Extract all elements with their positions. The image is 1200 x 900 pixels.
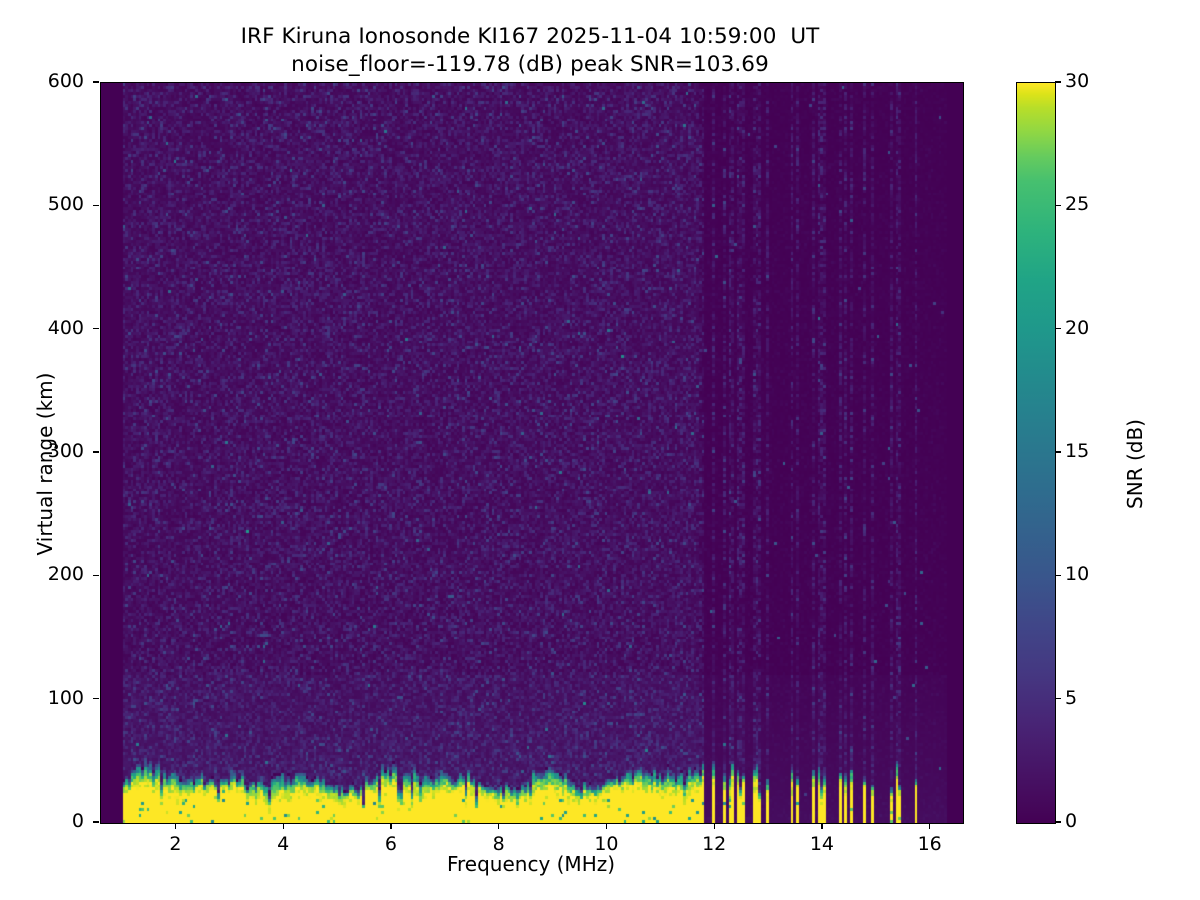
colorbar-tick-label: 5 — [1065, 687, 1125, 709]
colorbar-tick — [1055, 698, 1061, 699]
y-axis-tick — [93, 205, 99, 206]
y-axis-label: Virtual range (km) — [33, 314, 57, 614]
colorbar-tick — [1055, 575, 1061, 576]
y-axis-tick — [93, 328, 99, 329]
y-axis-tick — [93, 81, 99, 82]
colorbar-tick-label: 15 — [1065, 440, 1125, 462]
y-axis-tick-label: 600 — [24, 70, 84, 92]
x-axis-tick — [821, 823, 822, 829]
x-axis-tick — [606, 823, 607, 829]
x-axis-tick — [929, 823, 930, 829]
colorbar-tick-label: 0 — [1065, 810, 1125, 832]
colorbar-tick — [1055, 451, 1061, 452]
x-axis-tick — [498, 823, 499, 829]
x-axis-tick — [390, 823, 391, 829]
figure-title-line-2: noise_floor=-119.78 (dB) peak SNR=103.69 — [0, 52, 1060, 77]
y-axis-tick — [93, 698, 99, 699]
ionogram-heatmap-image — [101, 83, 963, 823]
colorbar-tick-label: 20 — [1065, 317, 1125, 339]
x-axis-tick — [714, 823, 715, 829]
colorbar-tick — [1055, 81, 1061, 82]
colorbar-tick-label: 25 — [1065, 193, 1125, 215]
x-axis-tick — [175, 823, 176, 829]
x-axis-label: Frequency (MHz) — [100, 852, 962, 876]
figure-title-line-1: IRF Kiruna Ionosonde KI167 2025-11-04 10… — [0, 24, 1060, 49]
colorbar-tick — [1055, 328, 1061, 329]
colorbar-label: SNR (dB) — [1123, 314, 1147, 614]
y-axis-tick-label: 0 — [24, 810, 84, 832]
y-axis-tick — [93, 575, 99, 576]
colorbar-tick-label: 10 — [1065, 563, 1125, 585]
ionogram-heatmap-axes[interactable] — [100, 82, 964, 824]
y-axis-tick-label: 100 — [24, 687, 84, 709]
y-axis-tick-label: 500 — [24, 193, 84, 215]
colorbar-tick-label: 30 — [1065, 70, 1125, 92]
x-axis-tick — [283, 823, 284, 829]
y-axis-tick — [93, 821, 99, 822]
y-axis-tick — [93, 451, 99, 452]
colorbar-tick — [1055, 205, 1061, 206]
colorbar-tick — [1055, 821, 1061, 822]
colorbar[interactable] — [1016, 82, 1056, 824]
figure-canvas: IRF Kiruna Ionosonde KI167 2025-11-04 10… — [0, 0, 1200, 900]
